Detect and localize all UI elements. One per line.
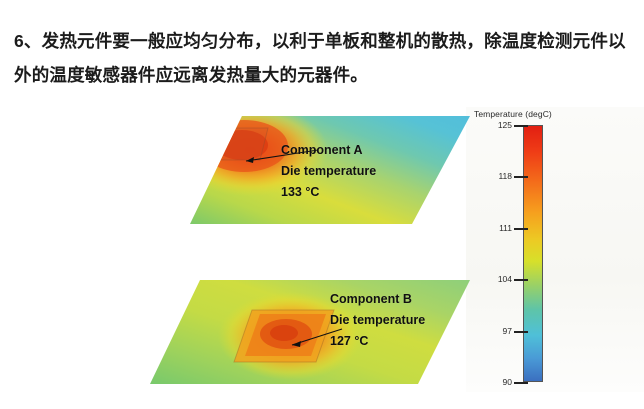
colorbar-label-125: 125 xyxy=(468,120,512,130)
plate-b-metric-label: Die temperature xyxy=(330,310,425,331)
colorbar-label-118: 118 xyxy=(468,171,512,181)
colorbar-tick-118 xyxy=(514,176,528,178)
colorbar-label-104: 104 xyxy=(468,274,512,284)
colorbar-label-90: 90 xyxy=(468,377,512,387)
plate-b-value-label: 127 °C xyxy=(330,331,425,352)
colorbar-label-111: 111 xyxy=(468,223,512,233)
plate-a-value-label: 133 °C xyxy=(281,182,376,203)
colorbar-title: Temperature (degC) xyxy=(474,109,552,119)
colorbar-panel-background xyxy=(466,107,644,392)
colorbar-tick-104 xyxy=(514,279,528,281)
plate-a-annotation: Component A Die temperature 133 °C xyxy=(281,140,376,203)
colorbar-tick-90 xyxy=(514,382,528,384)
plate-a-component-label: Component A xyxy=(281,140,376,161)
plate-b-component-label: Component B xyxy=(330,289,425,310)
plate-b-annotation: Component B Die temperature 127 °C xyxy=(330,289,425,352)
colorbar-tick-111 xyxy=(514,228,528,230)
plate-a-metric-label: Die temperature xyxy=(281,161,376,182)
thermal-figure: Component A Die temperature 133 °C xyxy=(0,92,644,409)
colorbar-gradient xyxy=(523,125,543,382)
colorbar-label-97: 97 xyxy=(468,326,512,336)
page-heading: 6、发热元件要一般应均匀分布，以利于单板和整机的散热，除温度检测元件以外的温度敏… xyxy=(14,24,634,92)
colorbar-tick-97 xyxy=(514,331,528,333)
screenshot-root: 6、发热元件要一般应均匀分布，以利于单板和整机的散热，除温度检测元件以外的温度敏… xyxy=(0,0,644,409)
colorbar-tick-125 xyxy=(514,125,528,127)
